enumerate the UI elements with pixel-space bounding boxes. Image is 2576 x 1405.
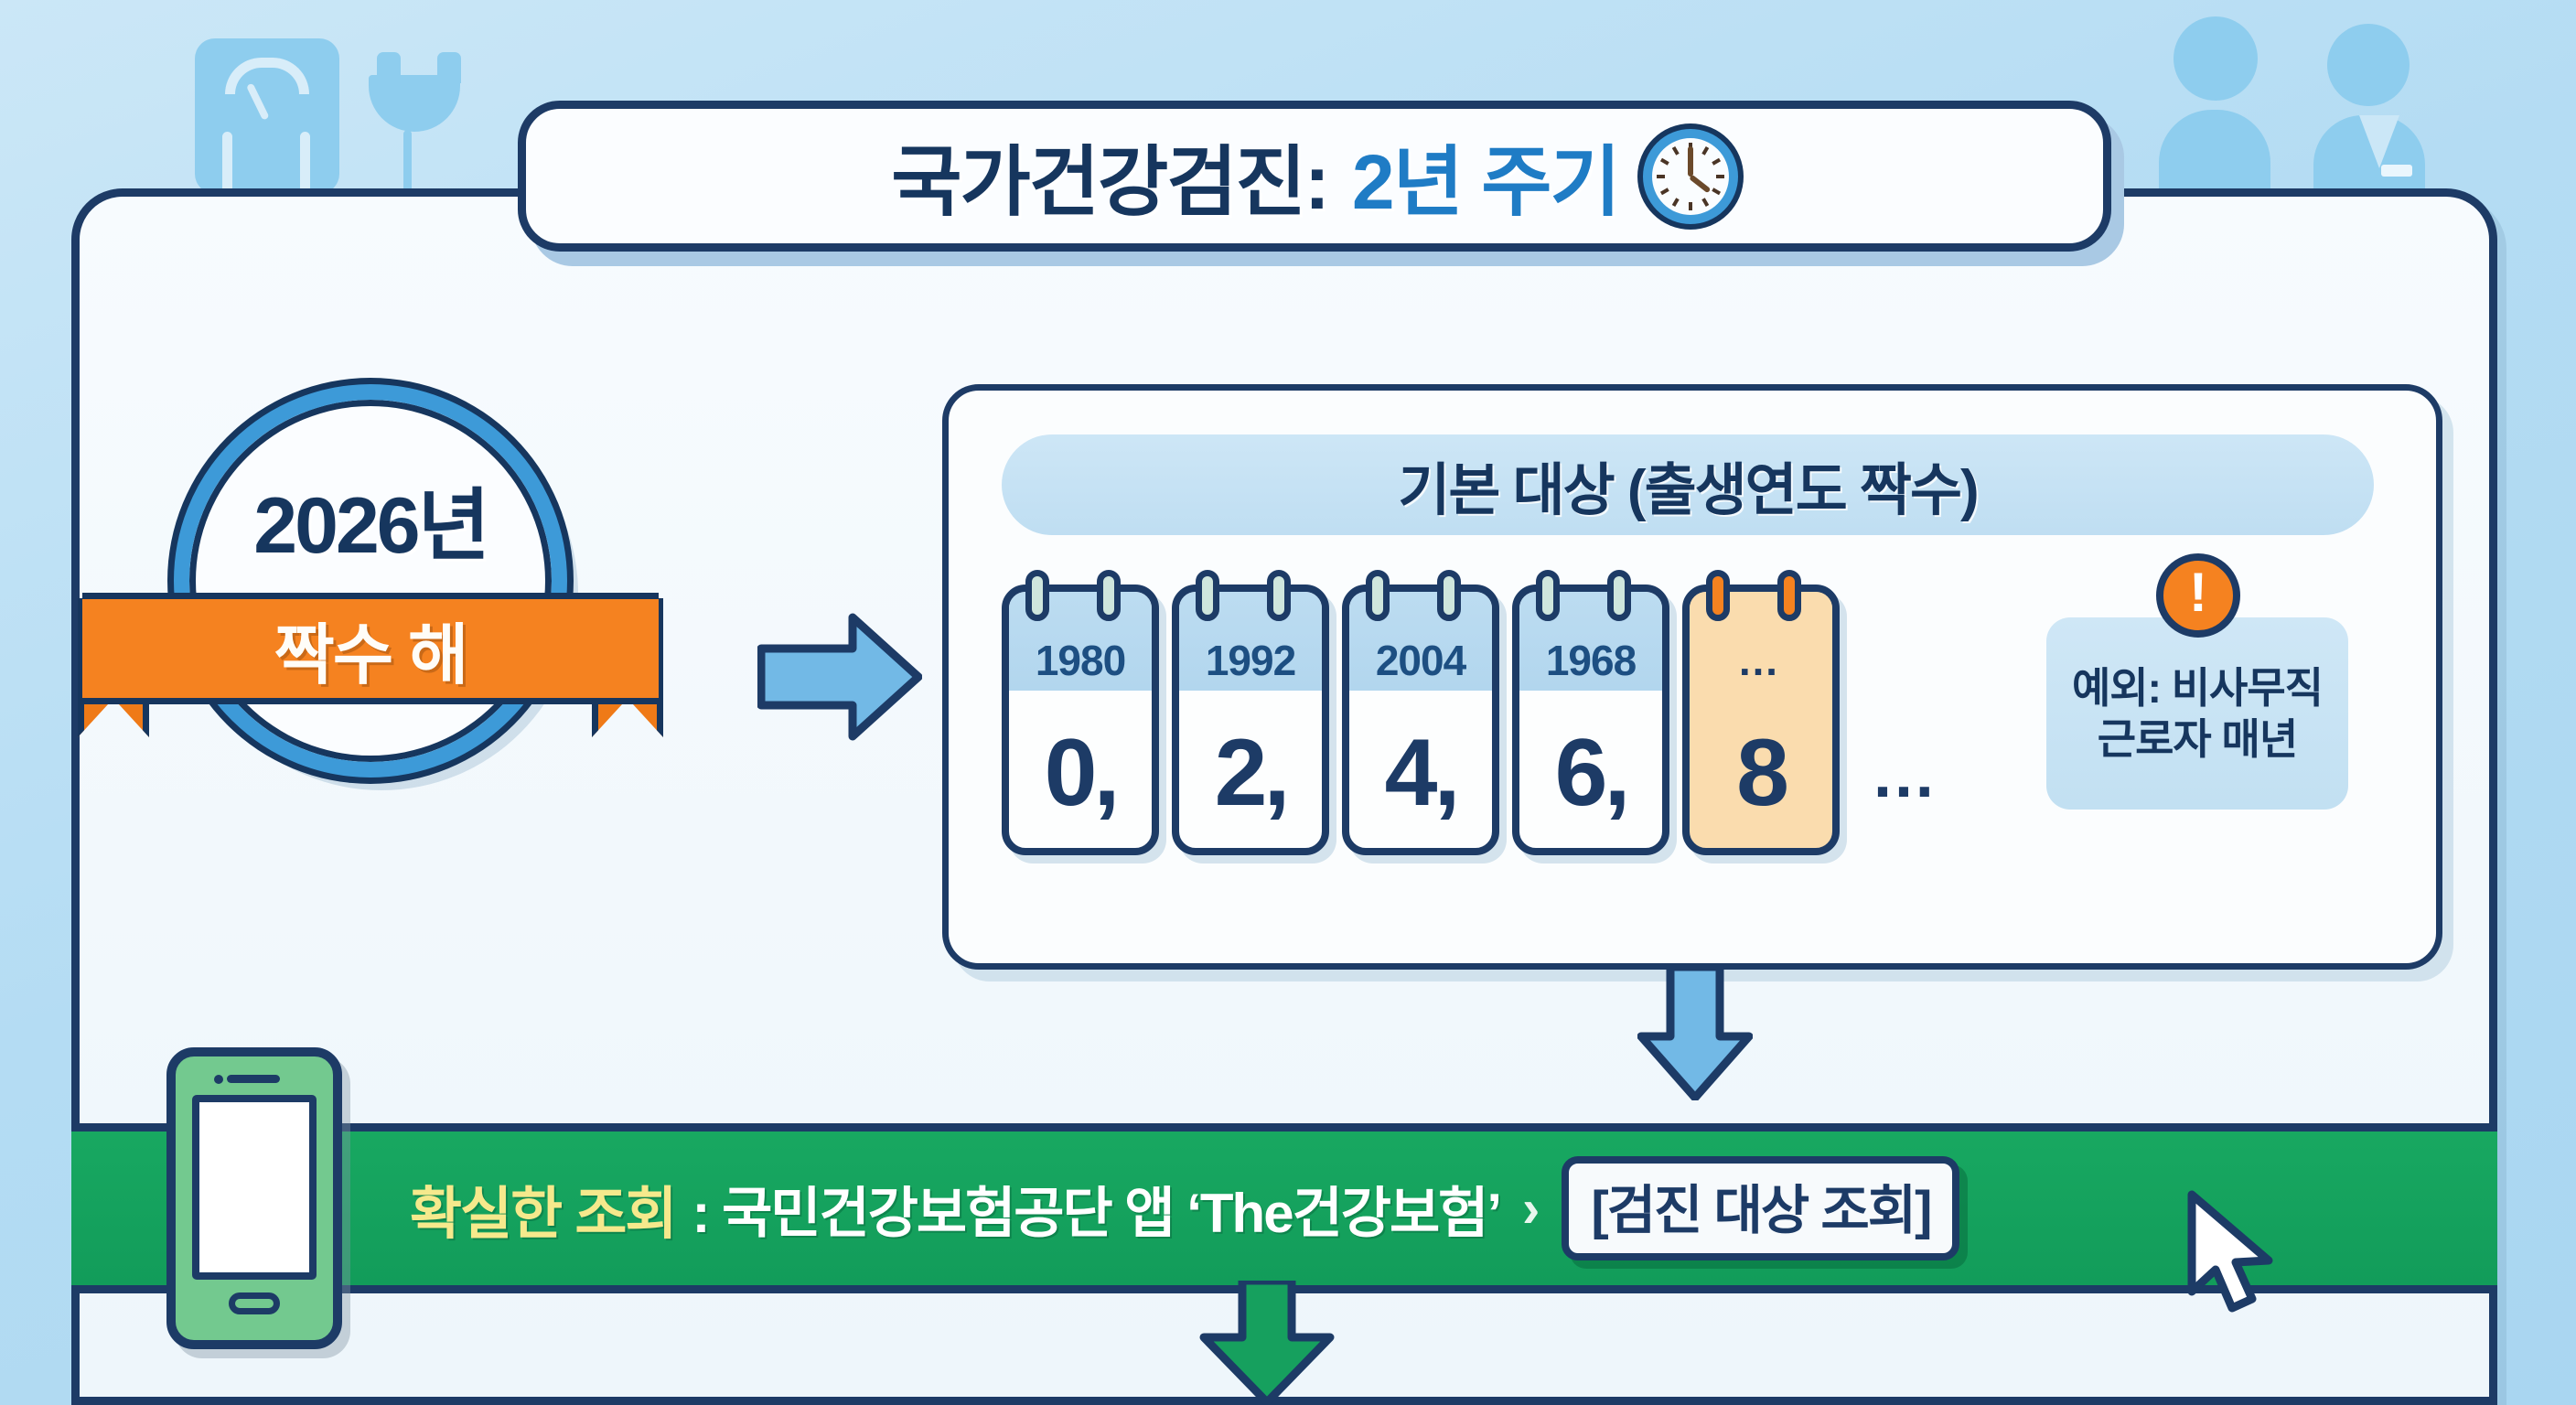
action-bar: 확실한 조회 : 국민건강보험공단 앱 ‘The건강보험’ › [검진 대상 조… (71, 1123, 2497, 1293)
calendar-year: 1968 (1546, 636, 1636, 685)
smartphone-icon (166, 1047, 342, 1349)
weight-scale-dial-icon (225, 58, 309, 94)
calendar-year: … (1737, 636, 1785, 685)
calendar-item: 2004 4, (1342, 585, 1499, 855)
calendar-item-highlighted: … 8 (1682, 585, 1840, 855)
action-bar-body: : 국민건강보험공단 앱 ‘The건강보험’ (692, 1169, 1500, 1249)
calendar-ring-icon (1536, 570, 1560, 621)
phone-camera-icon (214, 1075, 223, 1084)
phone-screen (192, 1095, 317, 1280)
eligibility-card: 기본 대상 (출생연도 짝수) 1980 0, 1992 2, (942, 384, 2442, 970)
card-heading-pill: 기본 대상 (출생연도 짝수) (1002, 434, 2374, 535)
exclamation-mark: ! (2189, 565, 2207, 620)
power-plug-icon (369, 75, 460, 132)
calendar-digit: 8 (1690, 691, 1832, 855)
exception-line-2: 근로자 매년 (2098, 713, 2297, 765)
exception-line-1: 예외: 비사무직 (2072, 662, 2323, 713)
arrow-down-icon (1637, 965, 1753, 1100)
year-badge-label: 2026년 (174, 461, 567, 575)
calendar-card: 1980 0, (1002, 585, 1159, 855)
calendar-ring-icon (1607, 570, 1631, 621)
calendar-ring-icon (1267, 570, 1291, 621)
calendar-year: 2004 (1376, 636, 1465, 685)
calendar-item: 1992 2, (1172, 585, 1329, 855)
mouse-cursor-icon (2184, 1189, 2285, 1317)
exception-note: 예외: 비사무직 근로자 매년 (2046, 617, 2348, 810)
calendar-digit: 2, (1179, 691, 1322, 855)
year-badge: 2026년 짝수 해 (174, 384, 567, 778)
calendar-ring-icon (1437, 570, 1461, 621)
suit-pocket-square-icon (2381, 165, 2412, 177)
calendar-digit: 4, (1349, 691, 1492, 855)
person-suit-head-icon (2327, 24, 2410, 106)
calendar-ring-icon (1097, 570, 1121, 621)
calendar-item: 1968 6, (1512, 585, 1669, 855)
person-in-suit-icon (2318, 24, 2425, 210)
suit-lapel-icon (2359, 115, 2399, 168)
calendar-digit: 0, (1009, 691, 1152, 855)
weight-scale-icon (195, 38, 339, 194)
power-plug-pin-right-icon (437, 52, 461, 83)
calendar-item: 1980 0, (1002, 585, 1159, 855)
calendar-ring-icon (1196, 570, 1219, 621)
action-bar-highlight: 확실한 조회 (410, 1167, 675, 1249)
person-head-icon (2173, 16, 2258, 101)
calendar-card: 1992 2, (1172, 585, 1329, 855)
weight-scale-foot-right-icon (300, 132, 310, 196)
page-title-accent: 2년 주기 (1352, 121, 1619, 231)
calendar-digit: 6, (1519, 691, 1662, 855)
page-title-main: 국가건강검진: (891, 121, 1328, 231)
clock-icon (1643, 129, 1738, 224)
check-eligibility-button-label: [검진 대상 조회] (1591, 1181, 1930, 1240)
title-banner: 국가건강검진: 2년 주기 (518, 101, 2111, 252)
weight-scale-foot-left-icon (222, 132, 232, 196)
calendar-ring-icon (1706, 570, 1730, 621)
card-heading-label: 기본 대상 (출생연도 짝수) (1398, 444, 1977, 526)
calendar-ring-icon (1777, 570, 1801, 621)
calendar-ring-icon (1366, 570, 1390, 621)
phone-home-button-icon (229, 1292, 280, 1314)
calendar-card: … 8 (1682, 585, 1840, 855)
weight-scale-needle-icon (246, 82, 270, 120)
phone-speaker-icon (227, 1075, 280, 1083)
calendar-list: 1980 0, 1992 2, 2004 4, (1002, 585, 1944, 855)
check-eligibility-button[interactable]: [검진 대상 조회] (1562, 1156, 1959, 1260)
power-plug-pin-left-icon (377, 52, 401, 83)
exclamation-icon: ! (2156, 553, 2240, 638)
calendar-ring-icon (1025, 570, 1049, 621)
calendar-year: 1980 (1036, 636, 1125, 685)
calendar-year: 1992 (1206, 636, 1295, 685)
person-icon (2170, 16, 2270, 210)
ribbon-banner: 짝수 해 (82, 593, 659, 704)
arrow-down-icon (1198, 1281, 1336, 1405)
arrow-right-icon (757, 608, 922, 745)
calendar-card: 2004 4, (1342, 585, 1499, 855)
ribbon-label: 짝수 해 (274, 601, 467, 697)
chevron-right-icon: › (1522, 1178, 1540, 1239)
calendar-card: 1968 6, (1512, 585, 1669, 855)
year-badge-ring (174, 384, 567, 778)
